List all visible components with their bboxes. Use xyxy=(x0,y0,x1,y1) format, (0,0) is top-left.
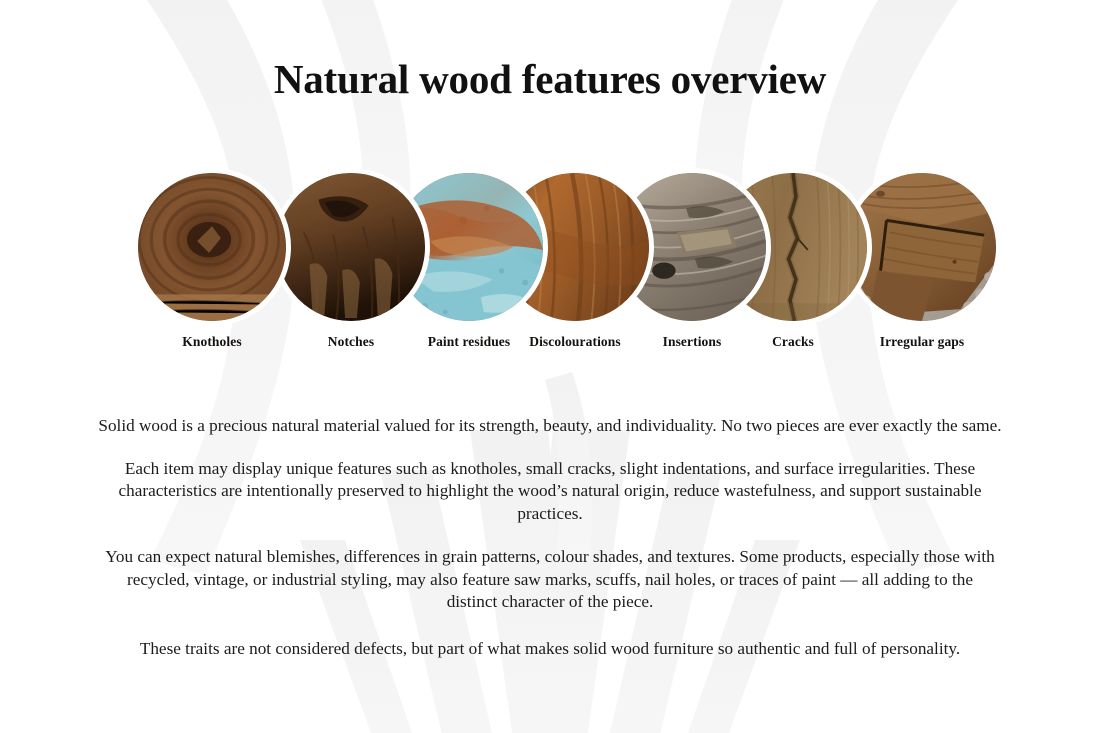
feature-image-notches xyxy=(272,168,430,326)
paragraph-intro: Solid wood is a precious natural materia… xyxy=(96,415,1004,438)
body-copy: Solid wood is a precious natural materia… xyxy=(96,415,1004,661)
paragraph-conclusion: These traits are not considered defects,… xyxy=(96,634,1004,661)
feature-circle-strip: Knotholes xyxy=(0,168,1100,358)
document-page: Natural wood features overview xyxy=(0,0,1100,733)
feature-image-knotholes xyxy=(133,168,291,326)
feature-label-knotholes: Knotholes xyxy=(102,334,322,350)
paragraph-features: Each item may display unique features su… xyxy=(96,458,1004,526)
feature-item-notches: Notches xyxy=(272,168,430,326)
page-title: Natural wood features overview xyxy=(0,56,1100,103)
paragraph-blemishes: You can expect natural blemishes, differ… xyxy=(96,546,1004,614)
feature-item-knotholes: Knotholes xyxy=(133,168,291,326)
